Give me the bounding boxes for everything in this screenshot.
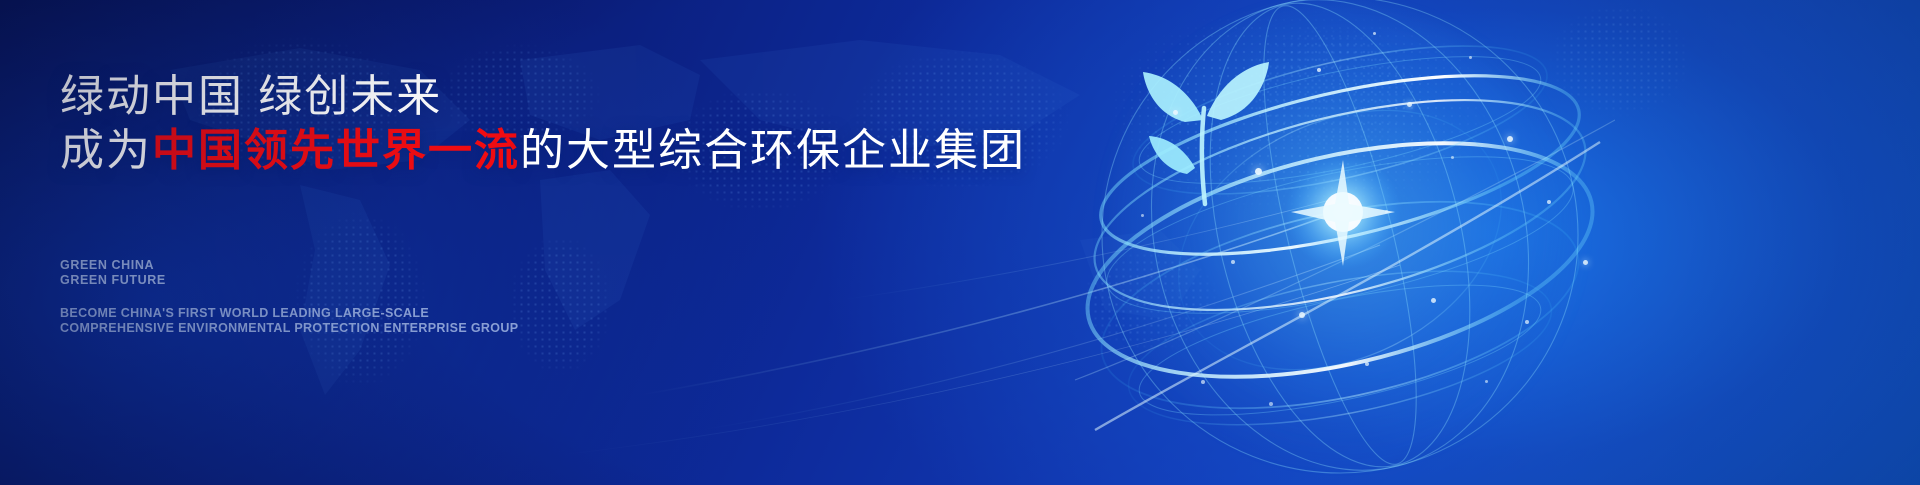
headline-line-2-suffix: 的大型综合环保企业集团 [520,126,1026,175]
subline-line-1: BECOME CHINA'S FIRST WORLD LEADING LARGE… [60,306,518,321]
tagline-line-2: GREEN FUTURE [60,273,166,288]
headline-line-2: 成为中国领先世界一流的大型综合环保企业集团 [60,124,1060,178]
headline-line-1: 绿动中国 绿创未来 [60,70,1060,124]
hero-banner: 绿动中国 绿创未来 成为中国领先世界一流的大型综合环保企业集团 GREEN CH… [0,0,1920,485]
tagline-block: GREEN CHINA GREEN FUTURE [60,258,166,288]
subline-block: BECOME CHINA'S FIRST WORLD LEADING LARGE… [60,306,518,336]
wireframe-globe [1055,0,1615,485]
subline-line-2: COMPREHENSIVE ENVIRONMENTAL PROTECTION E… [60,321,518,336]
headline-line-2-emphasis: 中国领先世界一流 [152,126,520,175]
headline-line-2-prefix: 成为 [60,126,152,175]
headline-block: 绿动中国 绿创未来 成为中国领先世界一流的大型综合环保企业集团 [60,70,1060,178]
tagline-line-1: GREEN CHINA [60,258,166,273]
star-particles [1055,0,1615,485]
headline-line-1-text: 绿动中国 绿创未来 [60,72,442,121]
